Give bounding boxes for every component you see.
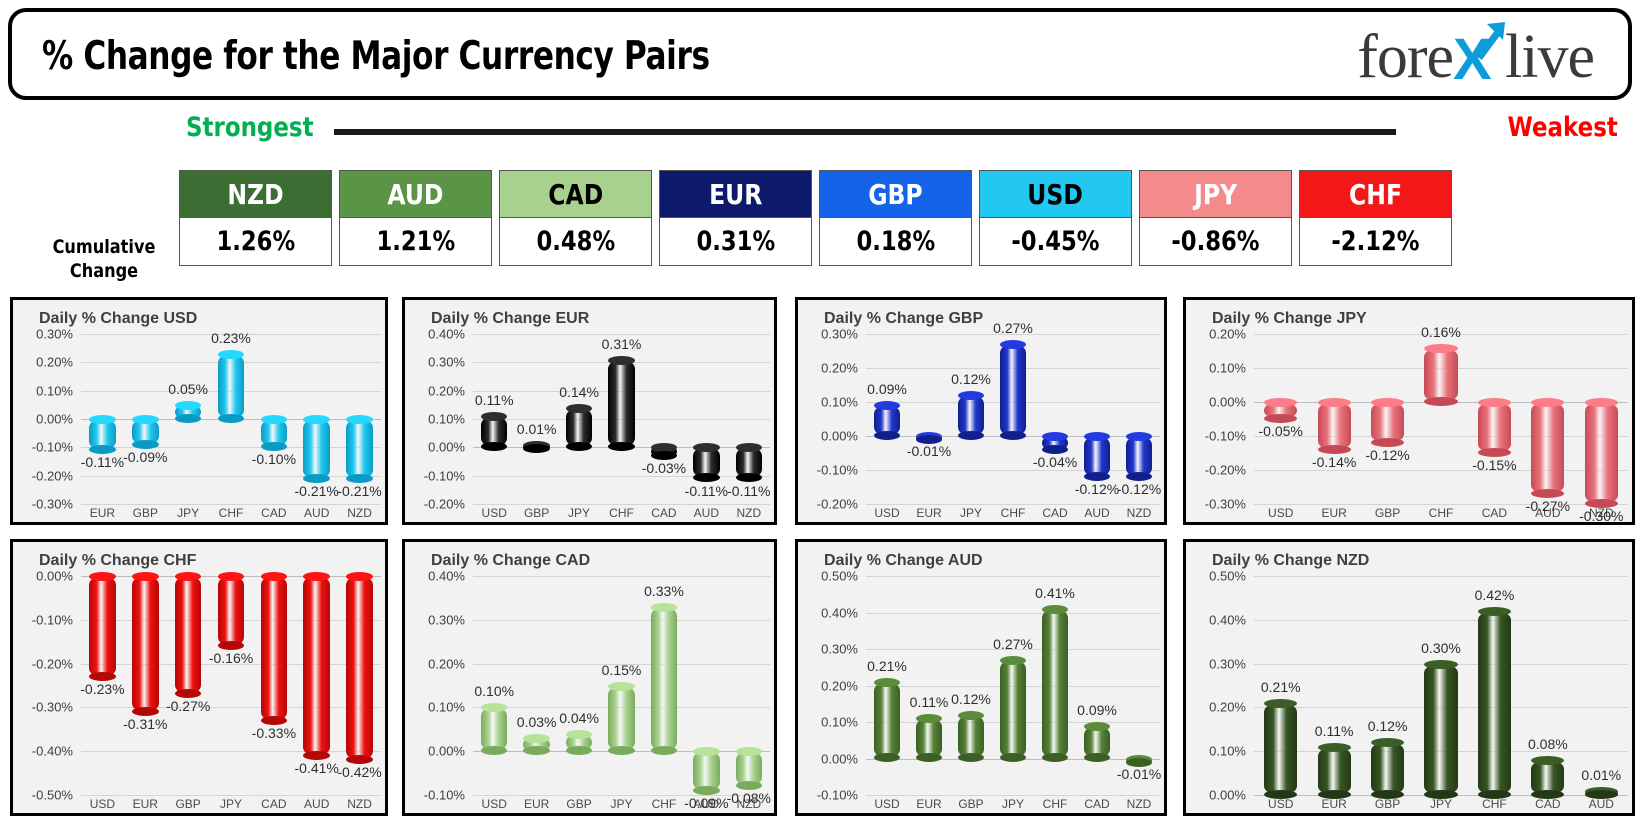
y-tick-label: 0.00%	[428, 744, 465, 759]
y-tick-label: -0.10%	[32, 440, 73, 455]
bar-base	[1318, 445, 1351, 454]
x-tick-label-jpy: JPY	[610, 797, 632, 811]
ranking-value-usd: -0.45%	[979, 218, 1132, 266]
y-tick-label: 0.00%	[36, 569, 73, 584]
weakest-label: Weakest	[1508, 112, 1618, 143]
ranking-code-cad: CAD	[499, 170, 652, 218]
bar-base	[1084, 753, 1110, 762]
bar-base	[523, 746, 549, 755]
x-tick-label-nzd: NZD	[1127, 797, 1152, 811]
y-tick-label: 0.20%	[1209, 700, 1246, 715]
value-label-jpy-chf: 0.16%	[1421, 324, 1461, 340]
y-tick-label: -0.10%	[817, 788, 858, 803]
value-label-nzd-cad: 0.08%	[1528, 736, 1568, 752]
bar-eur-nzd	[736, 447, 762, 478]
bar-base	[261, 716, 288, 725]
bar-aud-usd	[874, 682, 900, 759]
x-tick-label-eur: EUR	[1321, 797, 1346, 811]
ranking-cell-nzd: NZD1.26%	[179, 170, 332, 266]
bar-base	[693, 786, 719, 795]
y-tick-label: -0.20%	[424, 497, 465, 512]
bar-cap	[175, 401, 202, 410]
value-label-eur-usd: 0.11%	[475, 392, 514, 408]
bar-base	[1478, 790, 1511, 799]
x-tick-label-aud: AUD	[694, 506, 719, 520]
bar-cap	[736, 443, 762, 452]
bar-cap	[481, 412, 507, 421]
bar-base	[346, 755, 373, 764]
x-tick-label-eur: EUR	[90, 506, 115, 520]
ranking-cell-chf: CHF-2.12%	[1299, 170, 1452, 266]
value-label-cad-chf: 0.33%	[644, 583, 684, 599]
bar-base	[1126, 758, 1152, 767]
bar-chf-nzd	[346, 576, 373, 760]
value-label-chf-eur: -0.31%	[123, 716, 167, 732]
x-tick-label-jpy: JPY	[220, 797, 242, 811]
y-tick-label: 0.20%	[36, 355, 73, 370]
value-label-nzd-chf: 0.42%	[1475, 587, 1515, 603]
bar-base	[874, 431, 900, 440]
y-tick-label: 0.30%	[1209, 656, 1246, 671]
bar-chf-aud	[303, 576, 330, 756]
value-label-jpy-gbp: -0.12%	[1365, 447, 1409, 463]
bar-cap	[346, 572, 373, 581]
x-tick-label-nzd: NZD	[736, 506, 761, 520]
ranking-value-text: 0.18%	[856, 226, 935, 257]
gridline	[473, 476, 770, 477]
x-tick-label-usd: USD	[874, 506, 899, 520]
bar-base	[1318, 790, 1351, 799]
bar-cad-chf	[651, 607, 677, 752]
gridline	[1254, 620, 1628, 621]
bar-base	[1264, 790, 1297, 799]
bar-cap	[874, 678, 900, 687]
cumulative-change-label-line2: Change	[41, 259, 167, 283]
bar-nzd-aud	[1585, 791, 1618, 795]
bar-jpy-usd	[1264, 402, 1297, 419]
bar-base	[175, 414, 202, 423]
x-tick-label-chf: CHF	[1482, 797, 1507, 811]
bar-usd-cad	[261, 419, 288, 447]
bar-base	[736, 781, 762, 790]
value-label-usd-gbp: -0.09%	[123, 449, 167, 465]
x-tick-label-nzd: NZD	[347, 797, 372, 811]
gridline	[866, 613, 1160, 614]
header-bar: % Change for the Major Currency Pairs fo…	[8, 8, 1632, 100]
plot-area-gbp: USDEURJPYCHFCADAUDNZD0.30%0.20%0.10%0.00…	[798, 334, 1164, 522]
bar-base	[608, 442, 634, 451]
ranking-value-text: 1.21%	[376, 226, 455, 257]
strongest-label: Strongest	[186, 112, 314, 143]
y-tick-label: -0.20%	[32, 468, 73, 483]
bar-base	[651, 746, 677, 755]
chart-title-gbp: Daily % Change GBP	[824, 310, 983, 328]
bar-base	[1424, 397, 1457, 406]
bar-cap	[1585, 398, 1618, 407]
grid-area-gbp: 0.09%-0.01%0.12%0.27%-0.04%-0.12%-0.12%	[866, 334, 1160, 498]
bar-jpy-nzd	[1585, 402, 1618, 504]
ranking-value-text: -2.12%	[1331, 226, 1419, 257]
ranking-value-cad: 0.48%	[499, 218, 652, 266]
y-tick-label: 0.20%	[1209, 327, 1246, 342]
y-tick-label: 0.50%	[1209, 569, 1246, 584]
y-tick-label: 0.10%	[428, 700, 465, 715]
bar-jpy-eur	[1318, 402, 1351, 450]
bar-aud-cad	[1084, 726, 1110, 759]
y-tick-label: 0.00%	[36, 412, 73, 427]
bar-cap	[261, 572, 288, 581]
bar-cap	[89, 415, 116, 424]
bar-cap	[1126, 432, 1152, 441]
x-tick-label-cad: CAD	[1042, 506, 1067, 520]
bar-cad-nzd	[736, 751, 762, 786]
bar-cad-aud	[693, 751, 719, 790]
x-tick-label-eur: EUR	[916, 797, 941, 811]
chart-panel-usd: Daily % Change USDEURGBPJPYCHFCADAUDNZD0…	[10, 297, 388, 525]
x-tick-label-cad: CAD	[1535, 797, 1560, 811]
bar-jpy-chf	[1424, 348, 1457, 402]
bar-cap	[303, 415, 330, 424]
chart-title-nzd: Daily % Change NZD	[1212, 552, 1369, 570]
bar-base	[132, 707, 159, 716]
bar-cap	[218, 350, 245, 359]
bar-cap	[218, 572, 245, 581]
ranking-value-text: 1.26%	[216, 226, 295, 257]
gridline	[866, 795, 1160, 796]
bar-chf-eur	[132, 576, 159, 712]
bar-base	[1371, 790, 1404, 799]
x-tick-label-eur: EUR	[916, 506, 941, 520]
bar-base	[523, 444, 549, 453]
bar-cap	[1000, 340, 1026, 349]
value-label-chf-cad: -0.33%	[252, 725, 296, 741]
bar-eur-jpy	[566, 408, 592, 448]
y-tick-label: 0.00%	[1209, 395, 1246, 410]
x-tick-label-chf: CHF	[1429, 506, 1454, 520]
page-title: % Change for the Major Currency Pairs	[42, 34, 710, 79]
value-label-cad-gbp: 0.04%	[559, 710, 599, 726]
grid-area-cad: 0.10%0.03%0.04%0.15%0.33%-0.09%-0.08%	[473, 576, 770, 789]
bar-chf-jpy	[218, 576, 245, 646]
bar-cap	[261, 415, 288, 424]
bar-aud-nzd	[1126, 759, 1152, 763]
bar-nzd-jpy	[1424, 664, 1457, 795]
ranking-value-chf: -2.12%	[1299, 218, 1452, 266]
value-label-aud-gbp: 0.12%	[951, 691, 991, 707]
bar-cap	[132, 415, 159, 424]
y-tick-label: 0.40%	[821, 605, 858, 620]
ranking-code-text: GBP	[868, 178, 922, 211]
value-label-aud-chf: 0.41%	[1035, 585, 1075, 601]
x-tick-label-jpy: JPY	[1002, 797, 1024, 811]
bar-base	[89, 445, 116, 454]
ranking-code-nzd: NZD	[179, 170, 332, 218]
cumulative-change-label: Cumulative Change	[41, 235, 167, 283]
y-tick-label: 0.30%	[821, 327, 858, 342]
bar-usd-jpy	[175, 405, 202, 419]
y-tick-label: 0.10%	[1209, 744, 1246, 759]
x-tick-label-nzd: NZD	[347, 506, 372, 520]
ranking-value-text: 0.31%	[696, 226, 775, 257]
bar-eur-gbp	[523, 445, 549, 449]
x-tick-label-gbp: GBP	[958, 797, 983, 811]
bar-base	[1424, 790, 1457, 799]
bar-cap	[1264, 398, 1297, 407]
ranking-code-usd: USD	[979, 170, 1132, 218]
bar-cap	[566, 730, 592, 739]
ranking-code-jpy: JPY	[1139, 170, 1292, 218]
value-label-usd-cad: -0.10%	[252, 451, 296, 467]
bar-nzd-chf	[1478, 611, 1511, 795]
bar-gbp-chf	[1000, 344, 1026, 436]
bar-usd-nzd	[346, 419, 373, 479]
bar-base	[1084, 472, 1110, 481]
ranking-code-text: AUD	[387, 178, 443, 211]
bar-cap	[523, 734, 549, 743]
x-tick-label-chf: CHF	[1001, 506, 1026, 520]
bar-gbp-usd	[874, 405, 900, 436]
ranking-value-text: 0.48%	[536, 226, 615, 257]
value-label-jpy-aud: -0.27%	[1526, 498, 1570, 514]
bar-base	[346, 474, 373, 483]
bar-base	[1531, 489, 1564, 498]
y-tick-label: -0.20%	[817, 497, 858, 512]
y-axis-aud: 0.50%0.40%0.30%0.20%0.10%0.00%-0.10%	[798, 576, 864, 813]
bar-cap	[1318, 743, 1351, 752]
bar-cap	[175, 572, 202, 581]
bar-cap	[1264, 699, 1297, 708]
gridline	[81, 795, 381, 796]
gridline	[81, 707, 381, 708]
x-tick-label-chf: CHF	[219, 506, 244, 520]
bar-cap	[1371, 738, 1404, 747]
bar-cap	[1531, 398, 1564, 407]
bar-base	[958, 753, 984, 762]
bar-base	[874, 753, 900, 762]
chart-panel-gbp: Daily % Change GBPUSDEURJPYCHFCADAUDNZD0…	[795, 297, 1167, 525]
value-label-jpy-eur: -0.14%	[1312, 454, 1356, 470]
x-tick-label-cad: CAD	[261, 797, 286, 811]
bar-aud-chf	[1042, 609, 1068, 759]
bar-cad-gbp	[566, 734, 592, 752]
x-tick-label-gbp: GBP	[1375, 506, 1400, 520]
bar-cap	[693, 747, 719, 756]
chart-panel-nzd: Daily % Change NZDUSDEURGBPJPYCHFCADAUD0…	[1183, 539, 1635, 816]
strength-rail: Strongest Weakest	[0, 112, 1642, 152]
y-tick-label: 0.20%	[821, 678, 858, 693]
y-tick-label: -0.10%	[424, 788, 465, 803]
y-tick-label: -0.10%	[1205, 429, 1246, 444]
y-tick-label: -0.10%	[32, 612, 73, 627]
bar-cap	[1424, 344, 1457, 353]
bar-base	[1042, 445, 1068, 454]
chart-panel-jpy: Daily % Change JPYUSDEURGBPCHFCADAUDNZD0…	[1183, 297, 1635, 525]
bar-base	[651, 451, 677, 460]
bar-cap	[1084, 432, 1110, 441]
chart-title-jpy: Daily % Change JPY	[1212, 310, 1367, 328]
y-tick-label: 0.40%	[428, 327, 465, 342]
y-tick-label: -0.10%	[424, 468, 465, 483]
value-label-gbp-eur: -0.01%	[907, 443, 951, 459]
bar-cap	[89, 572, 116, 581]
x-tick-label-aud: AUD	[304, 506, 329, 520]
y-axis-jpy: 0.20%0.10%0.00%-0.10%-0.20%-0.30%	[1186, 334, 1252, 522]
bar-cap	[736, 747, 762, 756]
x-tick-label-usd: USD	[482, 506, 507, 520]
value-label-usd-jpy: 0.05%	[168, 381, 208, 397]
bar-gbp-jpy	[958, 395, 984, 436]
bar-chf-cad	[261, 576, 288, 721]
bar-gbp-cad	[1042, 436, 1068, 450]
bar-base	[481, 442, 507, 451]
x-tick-label-nzd: NZD	[1127, 506, 1152, 520]
bar-cap	[608, 356, 634, 365]
bar-gbp-aud	[1084, 436, 1110, 477]
bar-eur-usd	[481, 416, 507, 447]
plot-area-nzd: USDEURGBPJPYCHFCADAUD0.50%0.40%0.30%0.20…	[1186, 576, 1632, 813]
value-label-gbp-chf: 0.27%	[993, 320, 1033, 336]
bar-jpy-gbp	[1371, 402, 1404, 443]
bar-usd-aud	[303, 419, 330, 479]
chart-title-eur: Daily % Change EUR	[431, 310, 589, 328]
bar-base	[566, 746, 592, 755]
x-tick-label-cad: CAD	[261, 506, 286, 520]
bar-base	[916, 753, 942, 762]
bar-base	[1000, 431, 1026, 440]
bar-base	[218, 414, 245, 423]
value-label-jpy-cad: -0.15%	[1472, 457, 1516, 473]
bar-cap	[1042, 605, 1068, 614]
chart-panel-chf: Daily % Change CHFUSDEURGBPJPYCADAUDNZD0…	[10, 539, 388, 816]
y-axis-usd: 0.30%0.20%0.10%0.00%-0.10%-0.20%-0.30%	[13, 334, 79, 522]
plot-area-aud: USDEURGBPJPYCHFCADNZD0.50%0.40%0.30%0.20…	[798, 576, 1164, 813]
y-tick-label: 0.20%	[428, 656, 465, 671]
x-tick-label-gbp: GBP	[566, 797, 591, 811]
logo-text-live: live	[1505, 23, 1594, 91]
bar-cad-usd	[481, 707, 507, 751]
bar-jpy-aud	[1531, 402, 1564, 494]
chart-panel-aud: Daily % Change AUDUSDEURGBPJPYCHFCADNZD0…	[795, 539, 1167, 816]
value-label-cad-nzd: -0.08%	[727, 790, 771, 806]
x-tick-label-gbp: GBP	[524, 506, 549, 520]
bar-base	[261, 442, 288, 451]
chart-title-chf: Daily % Change CHF	[39, 552, 196, 570]
gridline	[473, 620, 770, 621]
x-tick-label-cad: CAD	[1084, 797, 1109, 811]
y-tick-label: 0.10%	[1209, 361, 1246, 376]
bar-base	[566, 442, 592, 451]
bar-cap	[1424, 660, 1457, 669]
y-tick-label: 0.40%	[428, 569, 465, 584]
y-tick-label: 0.30%	[821, 642, 858, 657]
bar-gbp-nzd	[1126, 436, 1152, 477]
value-label-gbp-aud: -0.12%	[1075, 481, 1119, 497]
bar-base	[958, 431, 984, 440]
bar-cap	[132, 572, 159, 581]
y-axis-cad: 0.40%0.30%0.20%0.10%0.00%-0.10%	[405, 576, 471, 813]
x-tick-label-jpy: JPY	[568, 506, 590, 520]
ranking-cell-gbp: GBP0.18%	[819, 170, 972, 266]
bar-cap	[1371, 398, 1404, 407]
bar-eur-chf	[608, 360, 634, 448]
value-label-usd-aud: -0.21%	[295, 483, 339, 499]
bar-base	[481, 746, 507, 755]
bar-base	[89, 672, 116, 681]
x-tick-label-aud: AUD	[304, 797, 329, 811]
ranking-code-text: EUR	[709, 178, 762, 211]
bar-base	[1042, 753, 1068, 762]
value-label-eur-jpy: 0.14%	[559, 384, 599, 400]
bar-cap	[1084, 722, 1110, 731]
y-tick-label: 0.00%	[821, 429, 858, 444]
y-tick-label: -0.30%	[32, 497, 73, 512]
x-tick-label-chf: CHF	[609, 506, 634, 520]
value-label-nzd-jpy: 0.30%	[1421, 640, 1461, 656]
value-label-nzd-aud: 0.01%	[1581, 767, 1621, 783]
bar-chf-usd	[89, 576, 116, 677]
y-tick-label: 0.40%	[1209, 612, 1246, 627]
grid-area-nzd: 0.21%0.11%0.12%0.30%0.42%0.08%0.01%	[1254, 576, 1628, 789]
gridline	[1254, 576, 1628, 577]
plot-area-usd: EURGBPJPYCHFCADAUDNZD0.30%0.20%0.10%0.00…	[13, 334, 385, 522]
cumulative-change-label-line1: Cumulative	[41, 235, 167, 259]
bar-cap	[1000, 656, 1026, 665]
value-label-jpy-usd: -0.05%	[1259, 423, 1303, 439]
gridline	[473, 576, 770, 577]
x-tick-label-cad: CAD	[1482, 506, 1507, 520]
x-tick-label-usd: USD	[1268, 506, 1293, 520]
bar-cap	[1531, 756, 1564, 765]
x-tick-label-eur: EUR	[1321, 506, 1346, 520]
forexlive-logo: foreXlive	[1357, 26, 1594, 88]
bar-aud-eur	[916, 718, 942, 758]
gridline	[81, 504, 381, 505]
bar-cap	[303, 572, 330, 581]
bar-base	[1264, 414, 1297, 423]
y-tick-label: -0.30%	[1205, 497, 1246, 512]
bar-cap	[608, 682, 634, 691]
grid-area-chf: -0.23%-0.31%-0.27%-0.16%-0.33%-0.41%-0.4…	[81, 576, 381, 789]
value-label-nzd-eur: 0.11%	[1315, 723, 1354, 739]
value-label-chf-gbp: -0.27%	[166, 698, 210, 714]
value-label-usd-nzd: -0.21%	[337, 483, 381, 499]
plot-area-chf: USDEURGBPJPYCADAUDNZD0.00%-0.10%-0.20%-0…	[13, 576, 385, 813]
grid-area-eur: 0.11%0.01%0.14%0.31%-0.03%-0.11%-0.11%	[473, 334, 770, 498]
gridline	[866, 576, 1160, 577]
y-tick-label: 0.30%	[428, 612, 465, 627]
x-tick-label-jpy: JPY	[177, 506, 199, 520]
bar-cad-eur	[523, 738, 549, 751]
gridline	[1254, 470, 1628, 471]
bar-aud-gbp	[958, 715, 984, 759]
bar-cap	[916, 714, 942, 723]
value-label-nzd-usd: 0.21%	[1261, 679, 1301, 695]
x-tick-label-aud: AUD	[1084, 506, 1109, 520]
value-label-usd-chf: 0.23%	[211, 330, 251, 346]
x-tick-label-usd: USD	[90, 797, 115, 811]
value-label-gbp-cad: -0.04%	[1033, 454, 1077, 470]
x-tick-label-jpy: JPY	[960, 506, 982, 520]
chart-panel-eur: Daily % Change EURUSDGBPJPYCHFCADAUDNZD0…	[402, 297, 777, 525]
bar-nzd-cad	[1531, 760, 1564, 795]
value-label-aud-jpy: 0.27%	[993, 636, 1033, 652]
gridline	[81, 751, 381, 752]
y-tick-label: 0.10%	[821, 395, 858, 410]
logo-text-fore: fore	[1357, 23, 1453, 91]
value-label-gbp-jpy: 0.12%	[951, 371, 991, 387]
y-tick-label: -0.20%	[1205, 463, 1246, 478]
ranking-cell-cad: CAD0.48%	[499, 170, 652, 266]
